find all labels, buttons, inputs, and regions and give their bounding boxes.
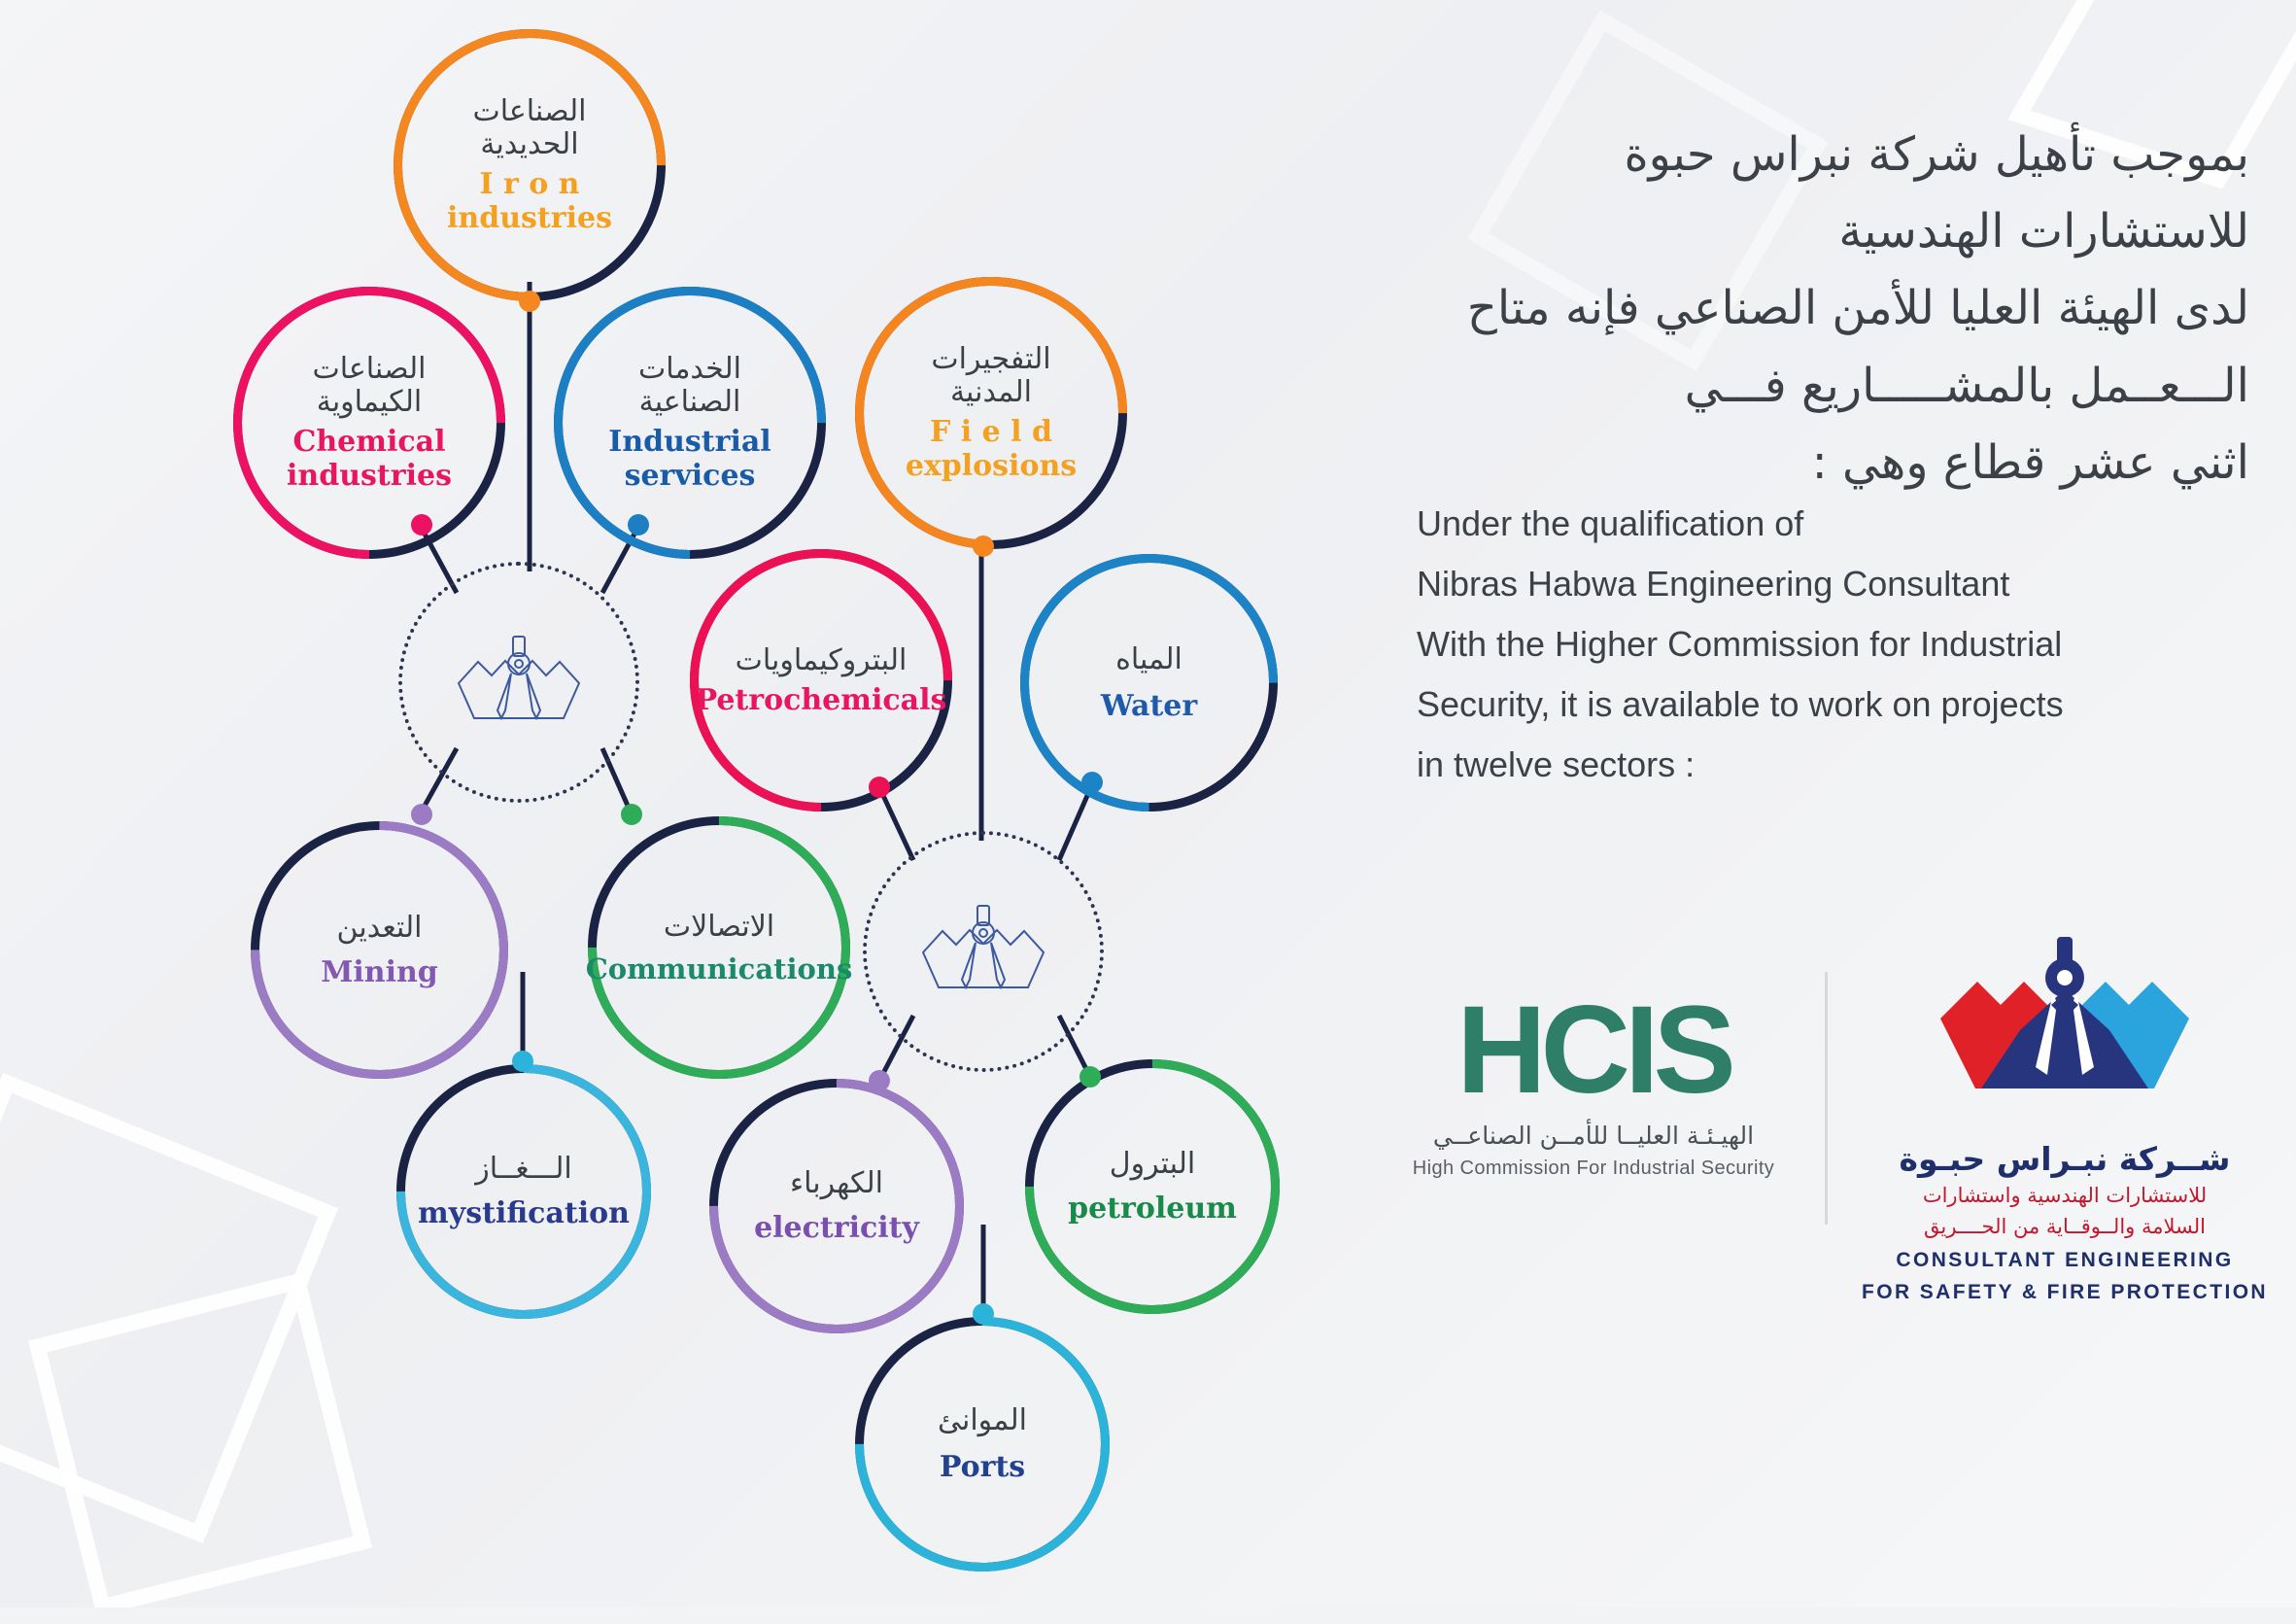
compass-mountain-icon — [441, 629, 597, 736]
connector-dot-explosions — [973, 536, 994, 557]
sector-label-ar: الموانئ — [938, 1404, 1027, 1437]
sector-label-en2: services — [608, 460, 771, 493]
hcis-logo: HCIS الهيـئـة العليــا للأمــن الصناعــي… — [1370, 991, 1817, 1180]
sector-label-ar2: الصناعية — [608, 386, 771, 419]
english-line-3: With the Higher Commission for Industria… — [1417, 614, 2281, 674]
arabic-heading-line-1: بموجب تأهيل شركة نبراس حبوة للاستشارات ا… — [1394, 117, 2249, 270]
sector-node-water[interactable]: المياه Water — [1020, 554, 1278, 812]
english-line-2: Nibras Habwa Engineering Consultant — [1417, 554, 2281, 614]
connector-dot-water — [1081, 772, 1103, 793]
nibras-arabic-sub-2: السلامة والــوقــاية من الحــــريق — [1836, 1213, 2293, 1240]
nibras-arabic-name: شــركة نبـراس حبـوة — [1836, 1140, 2293, 1178]
connector-dot-gas — [512, 1051, 533, 1072]
connector-dot-chemical — [411, 514, 432, 536]
sector-label-ar: الخدمات — [608, 353, 771, 386]
arabic-heading-line-2: لدى الهيئة العليا للأمن الصناعي فإنه متا… — [1394, 270, 2249, 347]
sector-label-ar2: الحديدية — [447, 128, 612, 161]
logo-divider — [1825, 972, 1828, 1225]
sector-label-ar2: الكيماوية — [287, 386, 452, 419]
sector-label-ar: الصناعات — [447, 95, 612, 128]
connector-dot-iron — [519, 291, 540, 312]
connector-dot-industrial — [628, 514, 649, 536]
sector-label-ar: التفجيرات — [906, 343, 1077, 376]
hcis-english-name: High Commission For Industrial Security — [1370, 1158, 1817, 1180]
connector-dot-petrochemicals — [869, 777, 890, 798]
sector-label-en: Communications — [586, 953, 853, 985]
compass-mountain-icon — [906, 898, 1061, 1005]
connector-dot-ports — [973, 1303, 994, 1325]
nibras-mountain-compass-icon — [1919, 933, 2210, 1127]
sector-node-explosions[interactable]: التفجيرات المدنية F i e l d explosions — [855, 277, 1127, 549]
english-line-5: in twelve sectors : — [1417, 735, 2281, 795]
arabic-heading-line-3: الـــعــمل بالمشـــــاريع فـــي — [1394, 348, 2249, 425]
english-line-1: Under the qualification of — [1417, 494, 2281, 554]
sector-label-ar: الصناعات — [287, 353, 452, 386]
sector-label-en2: explosions — [906, 450, 1077, 483]
english-line-4: Security, it is available to work on pro… — [1417, 674, 2281, 735]
sector-node-mining[interactable]: التعدين Mining — [251, 821, 508, 1079]
sector-label-ar: المياه — [1101, 643, 1197, 676]
sector-node-communications[interactable]: الاتصالات Communications — [588, 816, 850, 1079]
sector-node-iron[interactable]: الصناعات الحديدية I r o n industries — [394, 29, 666, 301]
sector-node-gas[interactable]: الـــغــاز mystification — [396, 1064, 651, 1319]
connector-dot-electricity — [869, 1070, 890, 1091]
sector-label-en: Chemical — [287, 426, 452, 459]
sector-label-en2: industries — [287, 460, 452, 493]
sector-label-en: mystification — [418, 1197, 630, 1230]
nibras-habwa-logo: شــركة نبـراس حبـوة للاستشارات الهندسية … — [1836, 933, 2293, 1305]
connector-dot-mining — [411, 804, 432, 825]
text-panel: بموجب تأهيل شركة نبراس حبوة للاستشارات ا… — [1360, 0, 2296, 1607]
sector-node-chemical[interactable]: الصناعات الكيماوية Chemical industries — [233, 287, 505, 559]
sector-label-ar: الـــغــاز — [418, 1153, 630, 1186]
connector-dot-communications — [621, 804, 642, 825]
sector-label-ar: البتروكيماويات — [696, 644, 947, 677]
sector-label-en: electricity — [754, 1212, 919, 1245]
sector-label-en: I r o n — [447, 168, 612, 201]
arabic-heading-line-4: اثني عشر قطاع وهي : — [1394, 425, 2249, 501]
hub-node-right — [863, 831, 1104, 1072]
hcis-wordmark: HCIS — [1370, 991, 1817, 1110]
sector-label-ar2: المدنية — [906, 376, 1077, 409]
arabic-heading: بموجب تأهيل شركة نبراس حبوة للاستشارات ا… — [1394, 117, 2249, 501]
sector-label-en: Water — [1101, 690, 1197, 723]
connector-dot-petroleum — [1079, 1066, 1101, 1088]
sector-node-industrial[interactable]: الخدمات الصناعية Industrial services — [554, 287, 826, 559]
sectors-diagram: الصناعات الحديدية I r o n industries الص… — [0, 0, 1380, 1607]
sector-label-ar: الكهرباء — [754, 1167, 919, 1200]
english-paragraph: Under the qualification of Nibras Habwa … — [1417, 494, 2281, 795]
hub-node-left — [398, 562, 639, 803]
logos-row: HCIS الهيـئـة العليــا للأمــن الصناعــي… — [1370, 933, 2293, 1283]
sector-label-ar: البترول — [1068, 1148, 1237, 1181]
sector-node-petroleum[interactable]: البترول petroleum — [1025, 1059, 1280, 1314]
sector-node-ports[interactable]: الموانئ Ports — [855, 1317, 1110, 1572]
sector-label-en: Mining — [321, 956, 438, 989]
sector-label-en: F i e l d — [906, 416, 1077, 449]
nibras-arabic-sub-1: للاستشارات الهندسية واستشارات — [1836, 1182, 2293, 1209]
sector-label-en: petroleum — [1068, 1192, 1237, 1226]
sector-label-ar: التعدين — [321, 912, 438, 945]
sector-label-en: Industrial — [608, 426, 771, 459]
sector-node-electricity[interactable]: الكهرباء electricity — [709, 1079, 964, 1333]
sector-label-ar: الاتصالات — [586, 911, 853, 944]
hcis-arabic-name: الهيـئـة العليــا للأمــن الصناعــي — [1370, 1122, 1817, 1150]
sector-label-en: Ports — [938, 1451, 1027, 1484]
sector-label-en: Petrochemicals — [696, 684, 947, 717]
sector-label-en2: industries — [447, 202, 612, 235]
nibras-english-line-1: CONSULTANT ENGINEERING — [1836, 1247, 2293, 1273]
sector-node-petrochemicals[interactable]: البتروكيماويات Petrochemicals — [690, 549, 952, 812]
nibras-english-line-2: FOR SAFETY & FIRE PROTECTION — [1836, 1279, 2293, 1305]
